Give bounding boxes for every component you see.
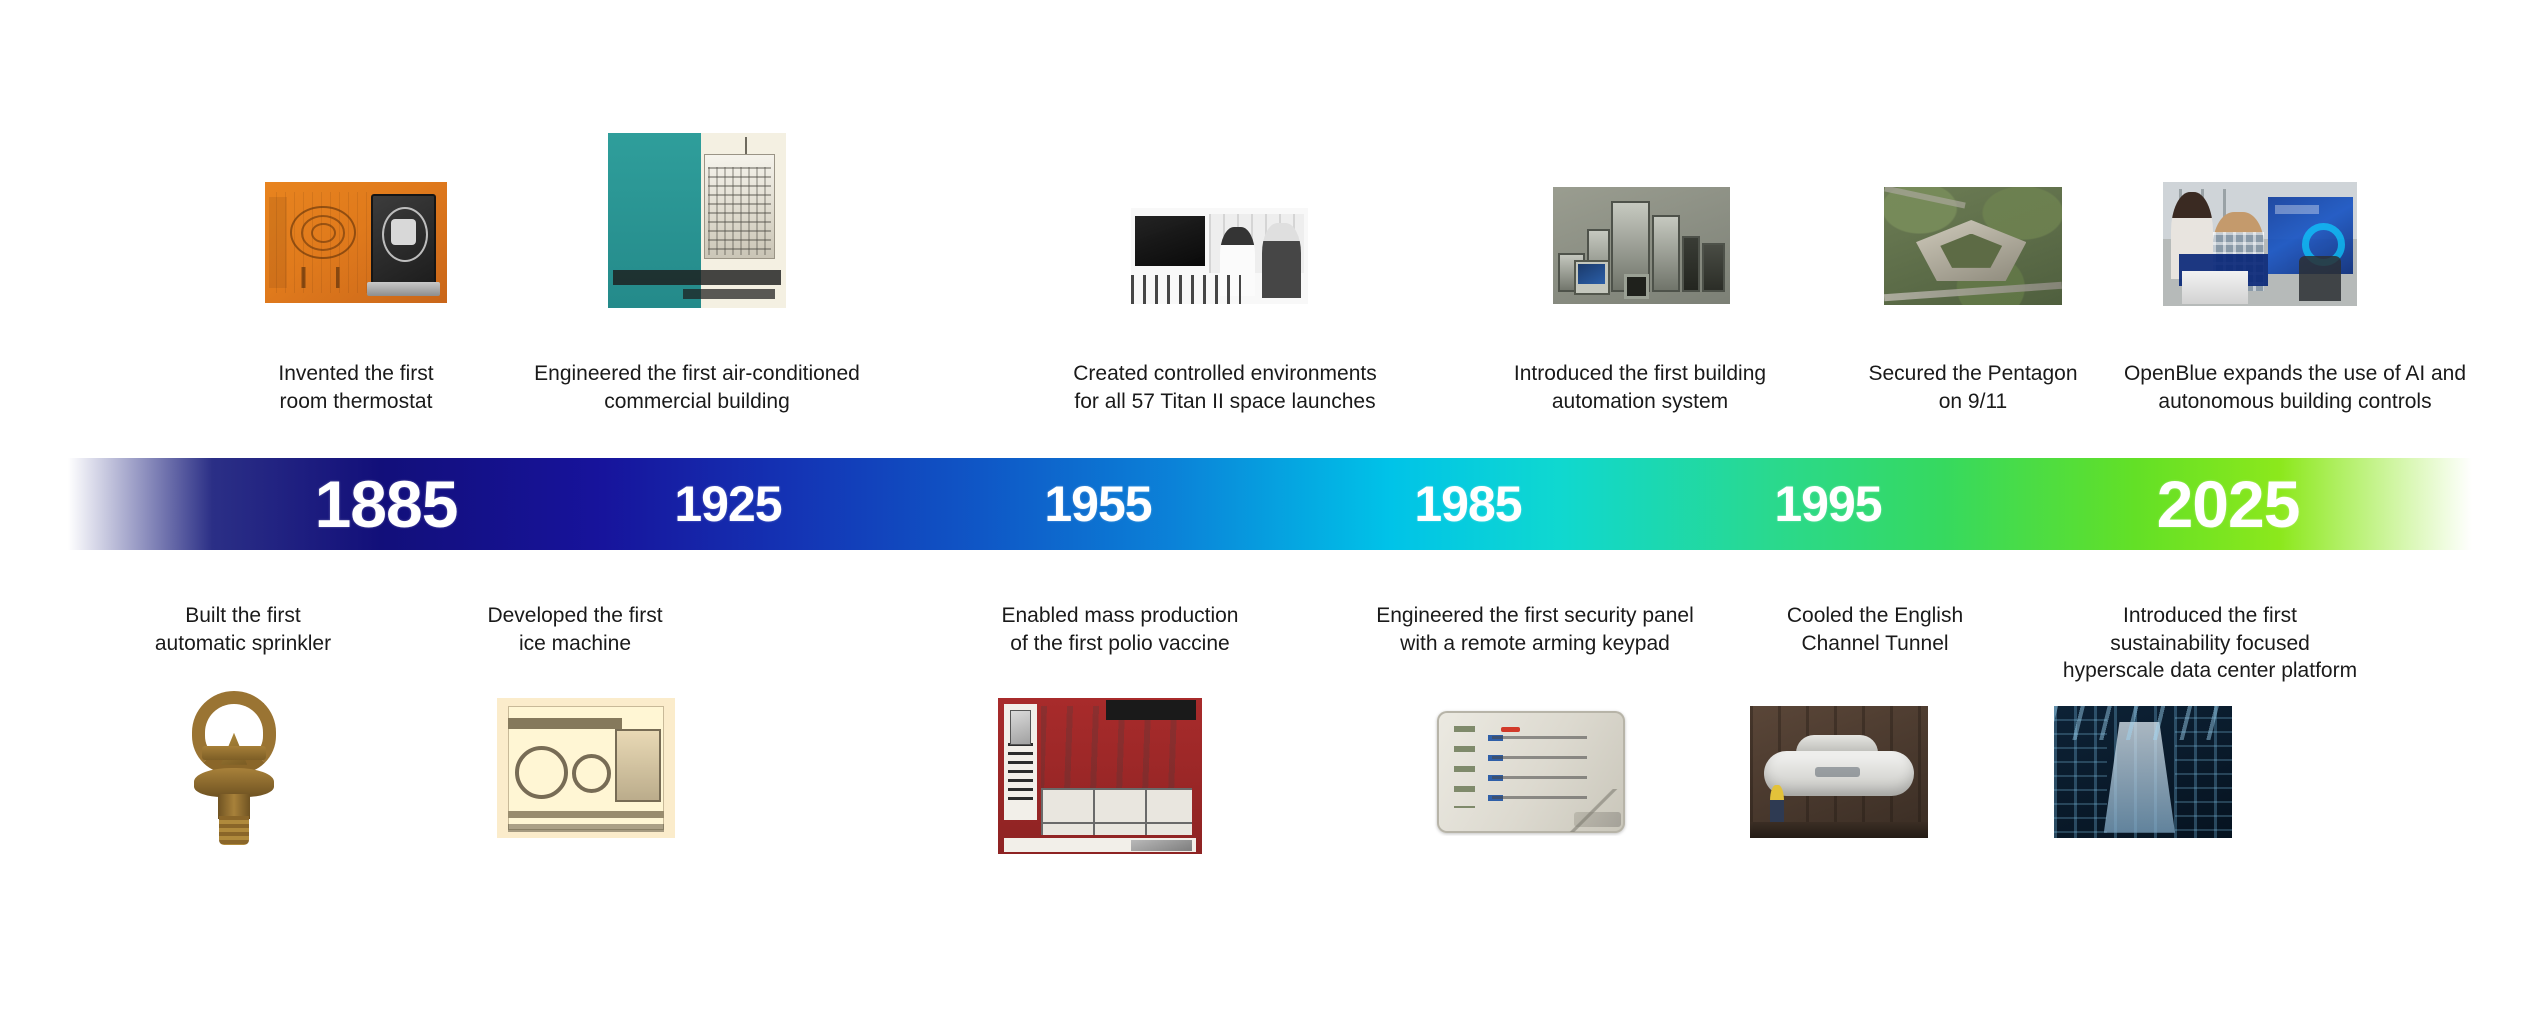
caption-line: Invented the first xyxy=(206,360,506,388)
caption-line: Created controlled environments xyxy=(1030,360,1420,388)
year-marker-1985[interactable]: 1985 xyxy=(1368,458,1568,550)
caption-line: with a remote arming keypad xyxy=(1355,630,1715,658)
caption-above-1955: Created controlled environments for all … xyxy=(1030,360,1420,416)
caption-below-1925: Developed the first ice machine xyxy=(425,602,725,662)
caption-line: Developed the first xyxy=(425,602,725,630)
caption-line: Introduced the first building xyxy=(1480,360,1800,388)
caption-line: on 9/11 xyxy=(1838,388,2108,416)
caption-line: autonomous building controls xyxy=(2095,388,2495,416)
caption-below-2025: Introduced the first sustainability focu… xyxy=(2000,602,2420,686)
caption-above-1985: Introduced the first building automation… xyxy=(1480,360,1800,416)
titan-control-room-image xyxy=(1131,208,1308,304)
openblue-office-image xyxy=(2163,182,2357,306)
caption-line: sustainability focused xyxy=(2000,630,2420,658)
caption-line: Engineered the first security panel xyxy=(1355,602,1715,630)
security-panel-image xyxy=(1424,708,1638,836)
caption-line: commercial building xyxy=(507,388,887,416)
caption-line: Channel Tunnel xyxy=(1725,630,2025,658)
data-center-image xyxy=(2054,706,2232,838)
caption-above-1885: Invented the first room thermostat xyxy=(206,360,506,416)
caption-below-1985: Engineered the first security panel with… xyxy=(1355,602,1715,662)
caption-line: ice machine xyxy=(425,630,725,658)
caption-line: Cooled the English xyxy=(1725,602,2025,630)
caption-line: Engineered the first air-conditioned xyxy=(507,360,887,388)
automatic-sprinkler-image xyxy=(168,688,300,848)
thermostat-patent-image xyxy=(265,182,447,303)
ice-machine-engraving-image xyxy=(497,698,675,838)
caption-line: of the first polio vaccine xyxy=(950,630,1290,658)
year-marker-2025[interactable]: 2025 xyxy=(2118,458,2338,550)
year-marker-1995[interactable]: 1995 xyxy=(1728,458,1928,550)
caption-line: Enabled mass production xyxy=(950,602,1290,630)
pentagon-aerial-image xyxy=(1884,187,2062,305)
building-automation-system-image xyxy=(1553,187,1730,304)
caption-line: Introduced the first xyxy=(2000,602,2420,630)
channel-tunnel-chiller-image xyxy=(1750,706,1928,838)
caption-above-2025: OpenBlue expands the use of AI and auton… xyxy=(2095,360,2495,416)
san-joaquin-brochure-image xyxy=(608,133,786,308)
caption-line: hyperscale data center platform xyxy=(2000,657,2420,685)
polio-vaccine-poster-image xyxy=(998,698,1202,854)
caption-above-1925: Engineered the first air-conditioned com… xyxy=(507,360,887,416)
caption-line: OpenBlue expands the use of AI and xyxy=(2095,360,2495,388)
year-marker-1955[interactable]: 1955 xyxy=(998,458,1198,550)
caption-line: automation system xyxy=(1480,388,1800,416)
caption-below-1995: Cooled the English Channel Tunnel xyxy=(1725,602,2025,662)
caption-below-1885: Built the first automatic sprinkler xyxy=(93,602,393,662)
caption-line: automatic sprinkler xyxy=(93,630,393,658)
caption-below-1955: Enabled mass production of the first pol… xyxy=(950,602,1290,662)
timeline-infographic: Invented the first room thermostat Engin… xyxy=(0,0,2539,1031)
caption-line: room thermostat xyxy=(206,388,506,416)
timeline-bar: 1885 1925 1955 1985 1995 2025 xyxy=(68,458,2472,550)
caption-line: Built the first xyxy=(93,602,393,630)
caption-above-1995: Secured the Pentagon on 9/11 xyxy=(1838,360,2108,416)
caption-line: for all 57 Titan II space launches xyxy=(1030,388,1420,416)
caption-line: Secured the Pentagon xyxy=(1838,360,2108,388)
year-marker-1925[interactable]: 1925 xyxy=(628,458,828,550)
year-marker-1885[interactable]: 1885 xyxy=(276,458,496,550)
